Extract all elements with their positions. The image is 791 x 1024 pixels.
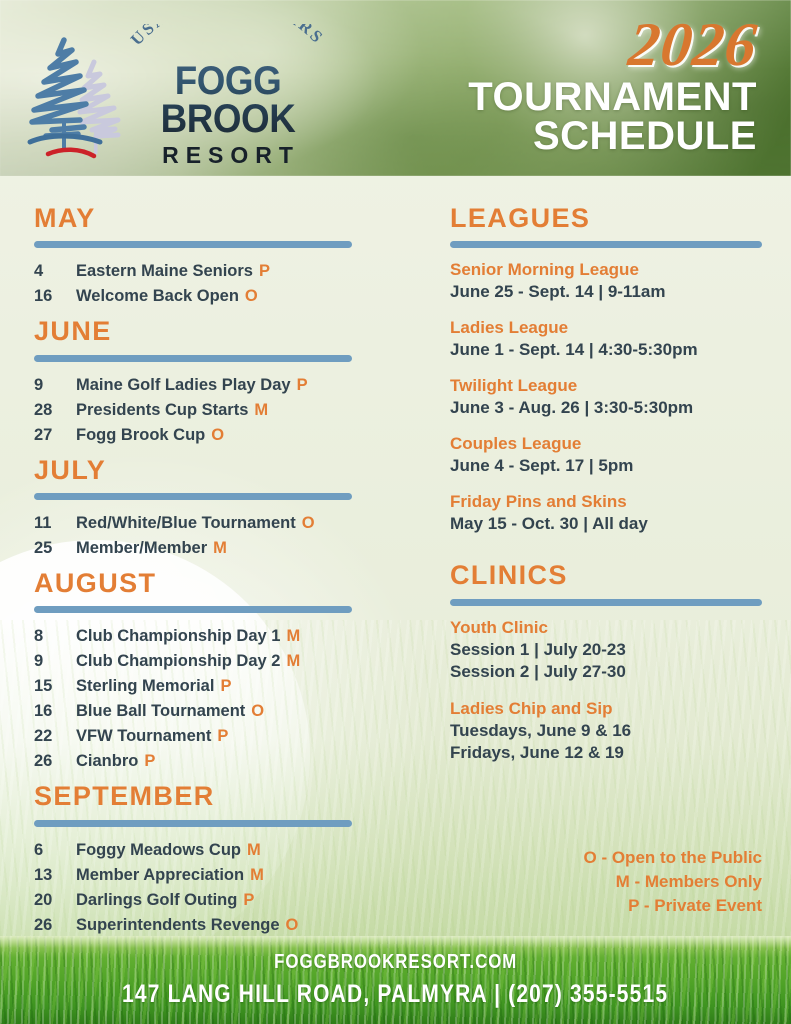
month-divider	[34, 493, 352, 500]
leagues-divider	[450, 241, 762, 248]
event-access-code: M	[286, 624, 300, 649]
event-access-code: O	[245, 284, 258, 309]
event-row: 13Member AppreciationM	[34, 863, 396, 888]
event-day: 6	[34, 838, 76, 863]
legend-line-members: M - Members Only	[584, 870, 763, 894]
event-day: 9	[34, 649, 76, 674]
clinic-item: Youth ClinicSession 1 | July 20-23Sessio…	[450, 617, 762, 683]
event-day: 13	[34, 863, 76, 888]
event-day: 28	[34, 398, 76, 423]
event-row: 8Club Championship Day 1M	[34, 624, 396, 649]
legend-line-open: O - Open to the Public	[584, 846, 763, 870]
event-row: 26Superintendents RevengeO	[34, 913, 396, 938]
league-schedule: June 3 - Aug. 26 | 3:30-5:30pm	[450, 397, 762, 419]
clinic-session-line: Session 1 | July 20-23	[450, 639, 762, 661]
month-divider	[34, 606, 352, 613]
league-name: Friday Pins and Skins	[450, 491, 762, 513]
month-heading: AUGUST	[34, 569, 396, 597]
event-access-code: O	[286, 913, 299, 938]
clinic-session-line: Tuesdays, June 9 & 16	[450, 720, 762, 742]
legend: O - Open to the Public M - Members Only …	[584, 846, 763, 918]
event-day: 26	[34, 913, 76, 938]
event-day: 8	[34, 624, 76, 649]
event-name: Fogg Brook Cup	[76, 423, 205, 448]
event-name: Darlings Golf Outing	[76, 888, 237, 913]
tournament-schedule-poster: USA 250 YEARS FOGG BROOK RESORT PALMYRA,…	[0, 0, 791, 1024]
league-schedule: June 25 - Sept. 14 | 9-11am	[450, 281, 762, 303]
event-name: Blue Ball Tournament	[76, 699, 245, 724]
month-divider	[34, 241, 352, 248]
month-divider	[34, 355, 352, 362]
league-schedule: June 1 - Sept. 14 | 4:30-5:30pm	[450, 339, 762, 361]
clinics-divider	[450, 599, 762, 606]
event-day: 27	[34, 423, 76, 448]
usa-250-years-arc: USA 250 YEARS	[118, 24, 338, 64]
footer-address-phone: 147 LANG HILL ROAD, PALMYRA | (207) 355-…	[122, 980, 668, 1009]
month-group: JUNE9Maine Golf Ladies Play DayP28Presid…	[34, 317, 396, 447]
event-access-code: O	[251, 699, 264, 724]
event-name: Member Appreciation	[76, 863, 244, 888]
event-access-code: O	[302, 511, 315, 536]
event-row: 11Red/White/Blue TournamentO	[34, 511, 396, 536]
footer-website[interactable]: FOGGBROOKRESORT.COM	[274, 951, 517, 974]
clinic-session-line: Session 2 | July 27-30	[450, 661, 762, 683]
brand-name-primary: FOGG BROOK	[127, 62, 329, 138]
resort-logo: USA 250 YEARS FOGG BROOK RESORT PALMYRA,…	[18, 18, 338, 166]
league-item: Twilight LeagueJune 3 - Aug. 26 | 3:30-5…	[450, 375, 762, 419]
event-day: 16	[34, 699, 76, 724]
legend-line-private: P - Private Event	[584, 894, 763, 918]
brand-name-secondary: RESORT	[118, 142, 338, 169]
league-name: Ladies League	[450, 317, 762, 339]
event-day: 4	[34, 259, 76, 284]
event-day: 11	[34, 511, 76, 536]
event-row: 22VFW TournamentP	[34, 724, 396, 749]
league-schedule: June 4 - Sept. 17 | 5pm	[450, 455, 762, 477]
event-access-code: P	[259, 259, 270, 284]
event-name: Cianbro	[76, 749, 138, 774]
year-label: 2026	[334, 14, 761, 76]
header-banner: USA 250 YEARS FOGG BROOK RESORT PALMYRA,…	[0, 0, 791, 176]
clinic-item: Ladies Chip and SipTuesdays, June 9 & 16…	[450, 698, 762, 764]
event-name: Club Championship Day 2	[76, 649, 280, 674]
event-access-code: P	[243, 888, 254, 913]
event-row: 16Welcome Back OpenO	[34, 284, 396, 309]
month-group: SEPTEMBER6Foggy Meadows CupM13Member App…	[34, 782, 396, 937]
usa-arc-prefix: USA	[127, 24, 172, 49]
event-day: 15	[34, 674, 76, 699]
league-item: Friday Pins and SkinsMay 15 - Oct. 30 | …	[450, 491, 762, 535]
title-line-2: SCHEDULE	[337, 117, 757, 156]
event-day: 9	[34, 373, 76, 398]
event-access-code: P	[297, 373, 308, 398]
event-access-code: M	[286, 649, 300, 674]
event-name: Presidents Cup Starts	[76, 398, 248, 423]
event-day: 16	[34, 284, 76, 309]
leagues-list: Senior Morning LeagueJune 25 - Sept. 14 …	[450, 259, 762, 535]
event-access-code: M	[213, 536, 227, 561]
event-name: Superintendents Revenge	[76, 913, 280, 938]
event-row: 6Foggy Meadows CupM	[34, 838, 396, 863]
event-day: 26	[34, 749, 76, 774]
months-container: MAY4Eastern Maine SeniorsP16Welcome Back…	[34, 204, 396, 938]
leagues-clinics-column: LEAGUES Senior Morning LeagueJune 25 - S…	[450, 204, 762, 764]
clinic-name: Ladies Chip and Sip	[450, 698, 762, 720]
event-name: VFW Tournament	[76, 724, 211, 749]
league-item: Ladies LeagueJune 1 - Sept. 14 | 4:30-5:…	[450, 317, 762, 361]
pine-trees-icon	[22, 30, 130, 162]
month-heading: SEPTEMBER	[34, 782, 396, 810]
league-name: Senior Morning League	[450, 259, 762, 281]
month-group: JULY11Red/White/Blue TournamentO25Member…	[34, 456, 396, 561]
event-day: 20	[34, 888, 76, 913]
event-access-code: P	[144, 749, 155, 774]
footer-contact: FOGGBROOKRESORT.COM 147 LANG HILL ROAD, …	[0, 936, 791, 1024]
footer-banner: FOGGBROOKRESORT.COM 147 LANG HILL ROAD, …	[0, 936, 791, 1024]
month-divider	[34, 820, 352, 827]
month-heading: MAY	[34, 204, 396, 232]
event-access-code: O	[211, 423, 224, 448]
event-row: 27Fogg Brook CupO	[34, 423, 396, 448]
poster-content: MAY4Eastern Maine SeniorsP16Welcome Back…	[0, 176, 791, 936]
clinics-heading: CLINICS	[450, 561, 762, 589]
event-name: Welcome Back Open	[76, 284, 239, 309]
svg-text:YEARS: YEARS	[258, 24, 328, 48]
event-row: 26CianbroP	[34, 749, 396, 774]
month-group: MAY4Eastern Maine SeniorsP16Welcome Back…	[34, 204, 396, 309]
event-row: 16Blue Ball TournamentO	[34, 699, 396, 724]
event-name: Red/White/Blue Tournament	[76, 511, 296, 536]
event-access-code: M	[247, 838, 261, 863]
title-line-1: TOURNAMENT	[468, 75, 757, 119]
league-name: Twilight League	[450, 375, 762, 397]
league-item: Couples LeagueJune 4 - Sept. 17 | 5pm	[450, 433, 762, 477]
event-access-code: P	[220, 674, 231, 699]
event-name: Club Championship Day 1	[76, 624, 280, 649]
poster-title-block: 2026 TOURNAMENT SCHEDULE	[337, 14, 757, 156]
svg-text:USA: USA	[127, 24, 172, 49]
event-day: 22	[34, 724, 76, 749]
event-row: 9Maine Golf Ladies Play DayP	[34, 373, 396, 398]
event-name: Member/Member	[76, 536, 207, 561]
leagues-heading: LEAGUES	[450, 204, 762, 232]
clinic-name: Youth Clinic	[450, 617, 762, 639]
clinic-session-line: Fridays, June 12 & 19	[450, 742, 762, 764]
event-access-code: M	[250, 863, 264, 888]
event-row: 4Eastern Maine SeniorsP	[34, 259, 396, 284]
event-name: Eastern Maine Seniors	[76, 259, 253, 284]
event-access-code: P	[217, 724, 228, 749]
page-title: TOURNAMENT SCHEDULE	[337, 78, 757, 156]
event-name: Maine Golf Ladies Play Day	[76, 373, 291, 398]
event-row: 25Member/MemberM	[34, 536, 396, 561]
month-heading: JULY	[34, 456, 396, 484]
league-schedule: May 15 - Oct. 30 | All day	[450, 513, 762, 535]
usa-arc-suffix: YEARS	[258, 24, 328, 48]
event-row: 9Club Championship Day 2M	[34, 649, 396, 674]
event-name: Foggy Meadows Cup	[76, 838, 241, 863]
league-item: Senior Morning LeagueJune 25 - Sept. 14 …	[450, 259, 762, 303]
event-day: 25	[34, 536, 76, 561]
clinics-list: Youth ClinicSession 1 | July 20-23Sessio…	[450, 617, 762, 764]
event-row: 20Darlings Golf OutingP	[34, 888, 396, 913]
month-group: AUGUST8Club Championship Day 1M9Club Cha…	[34, 569, 396, 774]
league-name: Couples League	[450, 433, 762, 455]
event-row: 15Sterling MemorialP	[34, 674, 396, 699]
logo-text-stack: USA 250 YEARS FOGG BROOK RESORT PALMYRA,…	[118, 24, 338, 176]
event-access-code: M	[254, 398, 268, 423]
month-heading: JUNE	[34, 317, 396, 345]
event-row: 28Presidents Cup StartsM	[34, 398, 396, 423]
schedule-column: MAY4Eastern Maine SeniorsP16Welcome Back…	[34, 204, 396, 942]
event-name: Sterling Memorial	[76, 674, 214, 699]
